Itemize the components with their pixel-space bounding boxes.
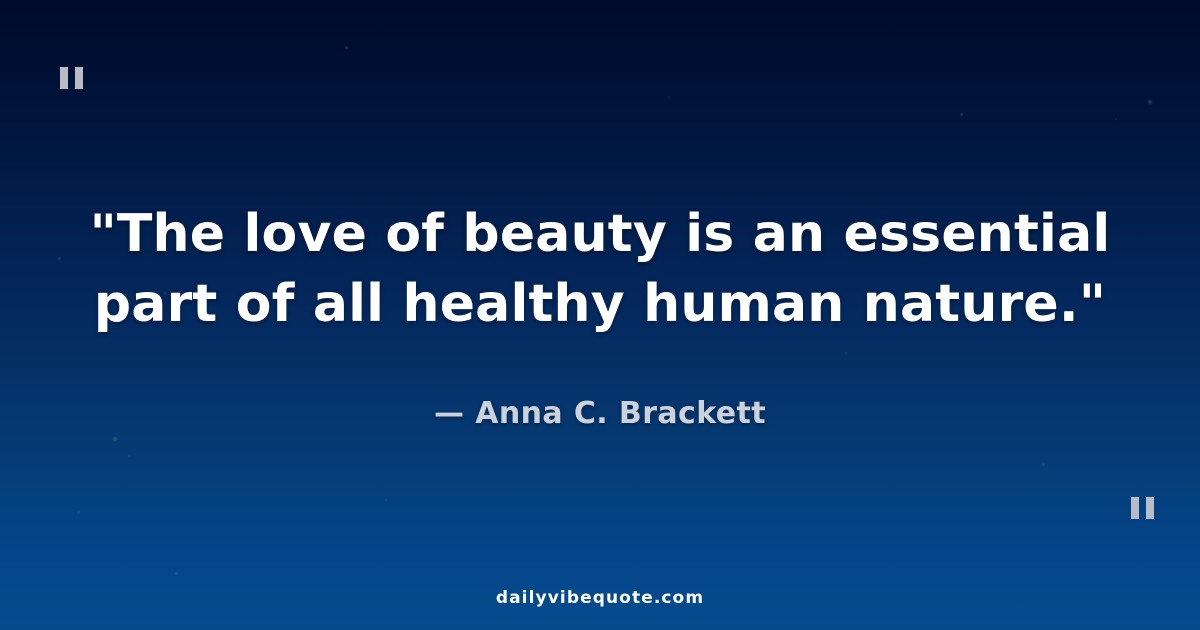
quote-text: "The love of beauty is an essential part… <box>55 199 1145 339</box>
card-content: "The love of beauty is an essential part… <box>0 0 1200 630</box>
quote-card: "The love of beauty is an essential part… <box>0 0 1200 630</box>
footer-site-url: dailyvibequote.com <box>0 588 1200 608</box>
quote-attribution: — Anna C. Brackett <box>434 339 766 431</box>
